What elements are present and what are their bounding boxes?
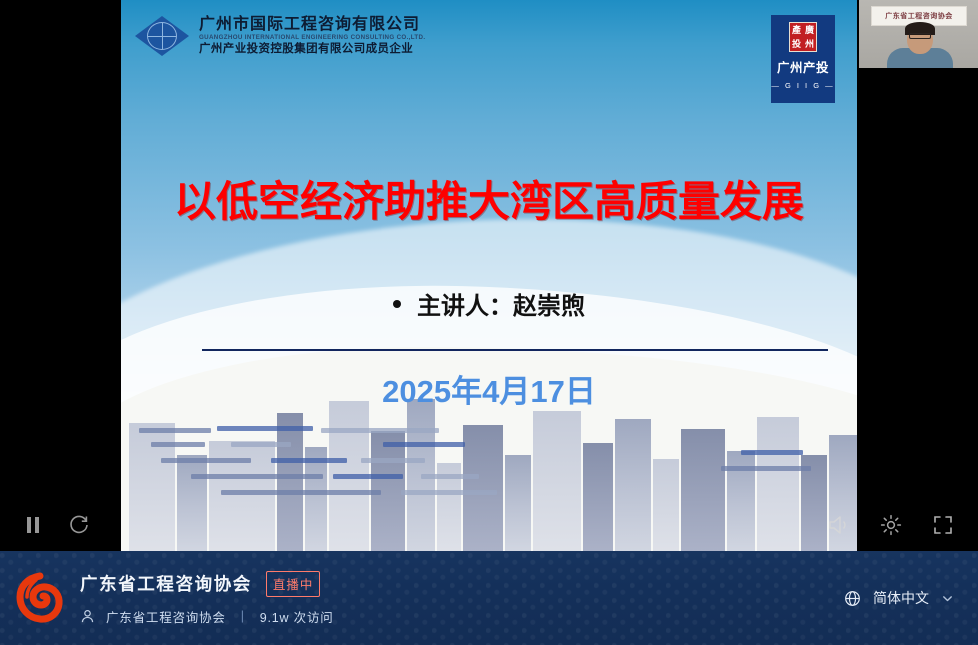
- visit-count: 9.1w 次访问: [260, 607, 334, 626]
- speaker-webcam-pip[interactable]: 广东省工程咨询协会: [858, 0, 978, 68]
- presentation-slide: 广州市国际工程咨询有限公司 GUANGZHOU INTERNATIONAL EN…: [121, 0, 857, 551]
- channel-title: 广东省工程咨询协会: [80, 571, 252, 596]
- pip-person-glasses: [909, 33, 931, 39]
- pause-button[interactable]: [20, 512, 46, 538]
- volume-icon[interactable]: [826, 512, 852, 538]
- video-player[interactable]: 广州市国际工程咨询有限公司 GUANGZHOU INTERNATIONAL EN…: [0, 0, 978, 551]
- company-group-cn: 广州产业投资控股集团有限公司成员企业: [199, 43, 425, 55]
- giig-seal-icon: 產 廣 投 州: [789, 22, 817, 52]
- globe-icon: [844, 590, 861, 607]
- speaker-name: 主讲人：赵崇煦: [417, 286, 585, 321]
- giig-name-en: — G I I G —: [771, 81, 834, 90]
- pip-banner-text: 广东省工程咨询协会: [885, 11, 953, 21]
- giig-badge: 產 廣 投 州 广州产投 — G I I G —: [771, 15, 835, 103]
- gear-icon[interactable]: [878, 512, 904, 538]
- live-status-badge: 直播中: [266, 571, 321, 597]
- person-icon: [80, 609, 95, 624]
- slide-header: 广州市国际工程咨询有限公司 GUANGZHOU INTERNATIONAL EN…: [121, 0, 857, 103]
- company-name-cn: 广州市国际工程咨询有限公司: [199, 16, 425, 33]
- live-stream-page: 广州市国际工程咨询有限公司 GUANGZHOU INTERNATIONAL EN…: [0, 0, 978, 645]
- company-name-en: GUANGZHOU INTERNATIONAL ENGINEERING CONS…: [199, 35, 425, 42]
- seal-char: 州: [805, 40, 814, 49]
- meta-separator: |: [241, 609, 245, 623]
- fullscreen-icon[interactable]: [930, 512, 956, 538]
- seal-char: 投: [792, 40, 801, 49]
- refresh-icon[interactable]: [66, 512, 92, 538]
- huawei-cloud-logo-icon: [14, 572, 66, 624]
- language-selector[interactable]: 简体中文: [844, 588, 954, 608]
- stream-org-block: 广东省工程咨询协会 直播中 广东省工程咨询协会 | 9.1w 次访问: [80, 571, 334, 626]
- slide-date: 2025年4月17日: [121, 366, 857, 411]
- bullet-icon: [393, 300, 401, 308]
- seal-char: 產: [792, 26, 801, 35]
- language-value: 简体中文: [873, 588, 929, 608]
- slide-speaker-line: 主讲人：赵崇煦: [121, 286, 857, 321]
- stream-info-bar: 广东省工程咨询协会 直播中 广东省工程咨询协会 | 9.1w 次访问 简体中文: [0, 551, 978, 645]
- host-name: 广东省工程咨询协会: [106, 607, 226, 626]
- slide-divider: [202, 349, 828, 351]
- seal-char: 廣: [805, 26, 814, 35]
- slide-title: 以低空经济助推大湾区高质量发展: [121, 168, 857, 229]
- chevron-down-icon: [941, 592, 954, 605]
- globe-diamond-logo-icon: [135, 16, 189, 56]
- company-brand: 广州市国际工程咨询有限公司 GUANGZHOU INTERNATIONAL EN…: [135, 16, 425, 56]
- giig-name-cn: 广州产投: [777, 57, 829, 76]
